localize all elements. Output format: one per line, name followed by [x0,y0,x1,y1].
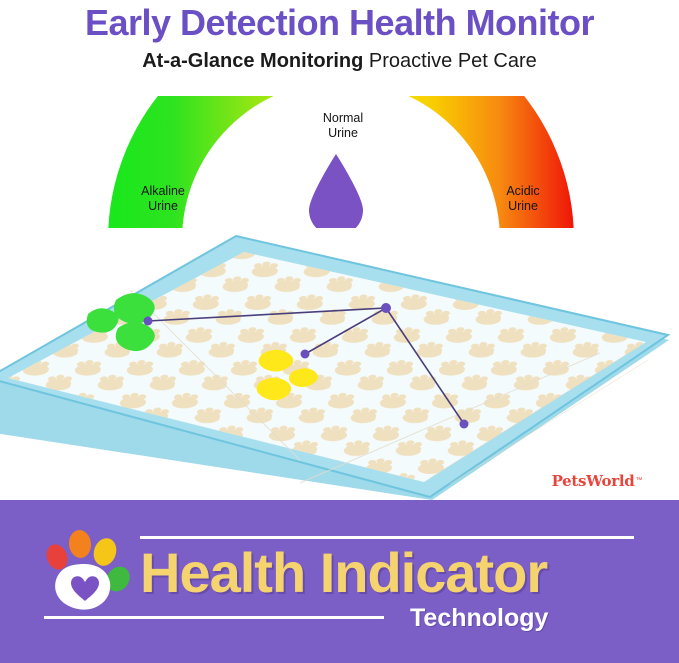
page-title: Early Detection Health Monitor [0,1,679,45]
subtitle-bold: At-a-Glance Monitoring [142,50,363,72]
pet-pad-illustration [0,228,679,500]
yellow-stain-node [301,350,310,359]
petsworld-logo-text: PetsWorld [552,472,635,490]
trademark-symbol: ™ [635,477,642,484]
petsworld-logo: PetsWorld™ [536,468,658,493]
banner-heading: Health Indicator [140,540,640,606]
gauge-label-acidic: Acidic Urine [480,184,566,214]
gauge-label-acidic-line1: Acidic [480,184,566,199]
rule-top [140,536,634,539]
product-infographic: Early Detection Health Monitor At-a-Glan… [0,0,679,663]
health-indicator-text-block: Health Indicator Technology [140,536,640,646]
gauge-label-alkaline-line2: Urine [120,199,206,214]
banner-subheading: Technology [410,602,640,634]
gauge-label-acidic-line2: Urine [480,199,566,214]
gauge-label-normal: Normal Urine [288,111,398,141]
paw-logo-icon [44,524,132,616]
rule-bottom [44,616,384,619]
indicator-hub-node [381,303,391,313]
red-stain-node [460,420,469,429]
gauge-label-normal-line1: Normal [288,111,398,126]
gauge-label-alkaline-line1: Alkaline [120,184,206,199]
page-subtitle: At-a-Glance Monitoring Proactive Pet Car… [0,48,679,74]
header: Early Detection Health Monitor At-a-Glan… [0,0,679,92]
gauge-label-normal-line2: Urine [288,126,398,141]
gauge-label-alkaline: Alkaline Urine [120,184,206,214]
pad-graphic [0,228,679,500]
green-stain-node [144,317,153,326]
urine-droplet-icon [306,152,366,238]
subtitle-light: Proactive Pet Care [369,50,537,72]
